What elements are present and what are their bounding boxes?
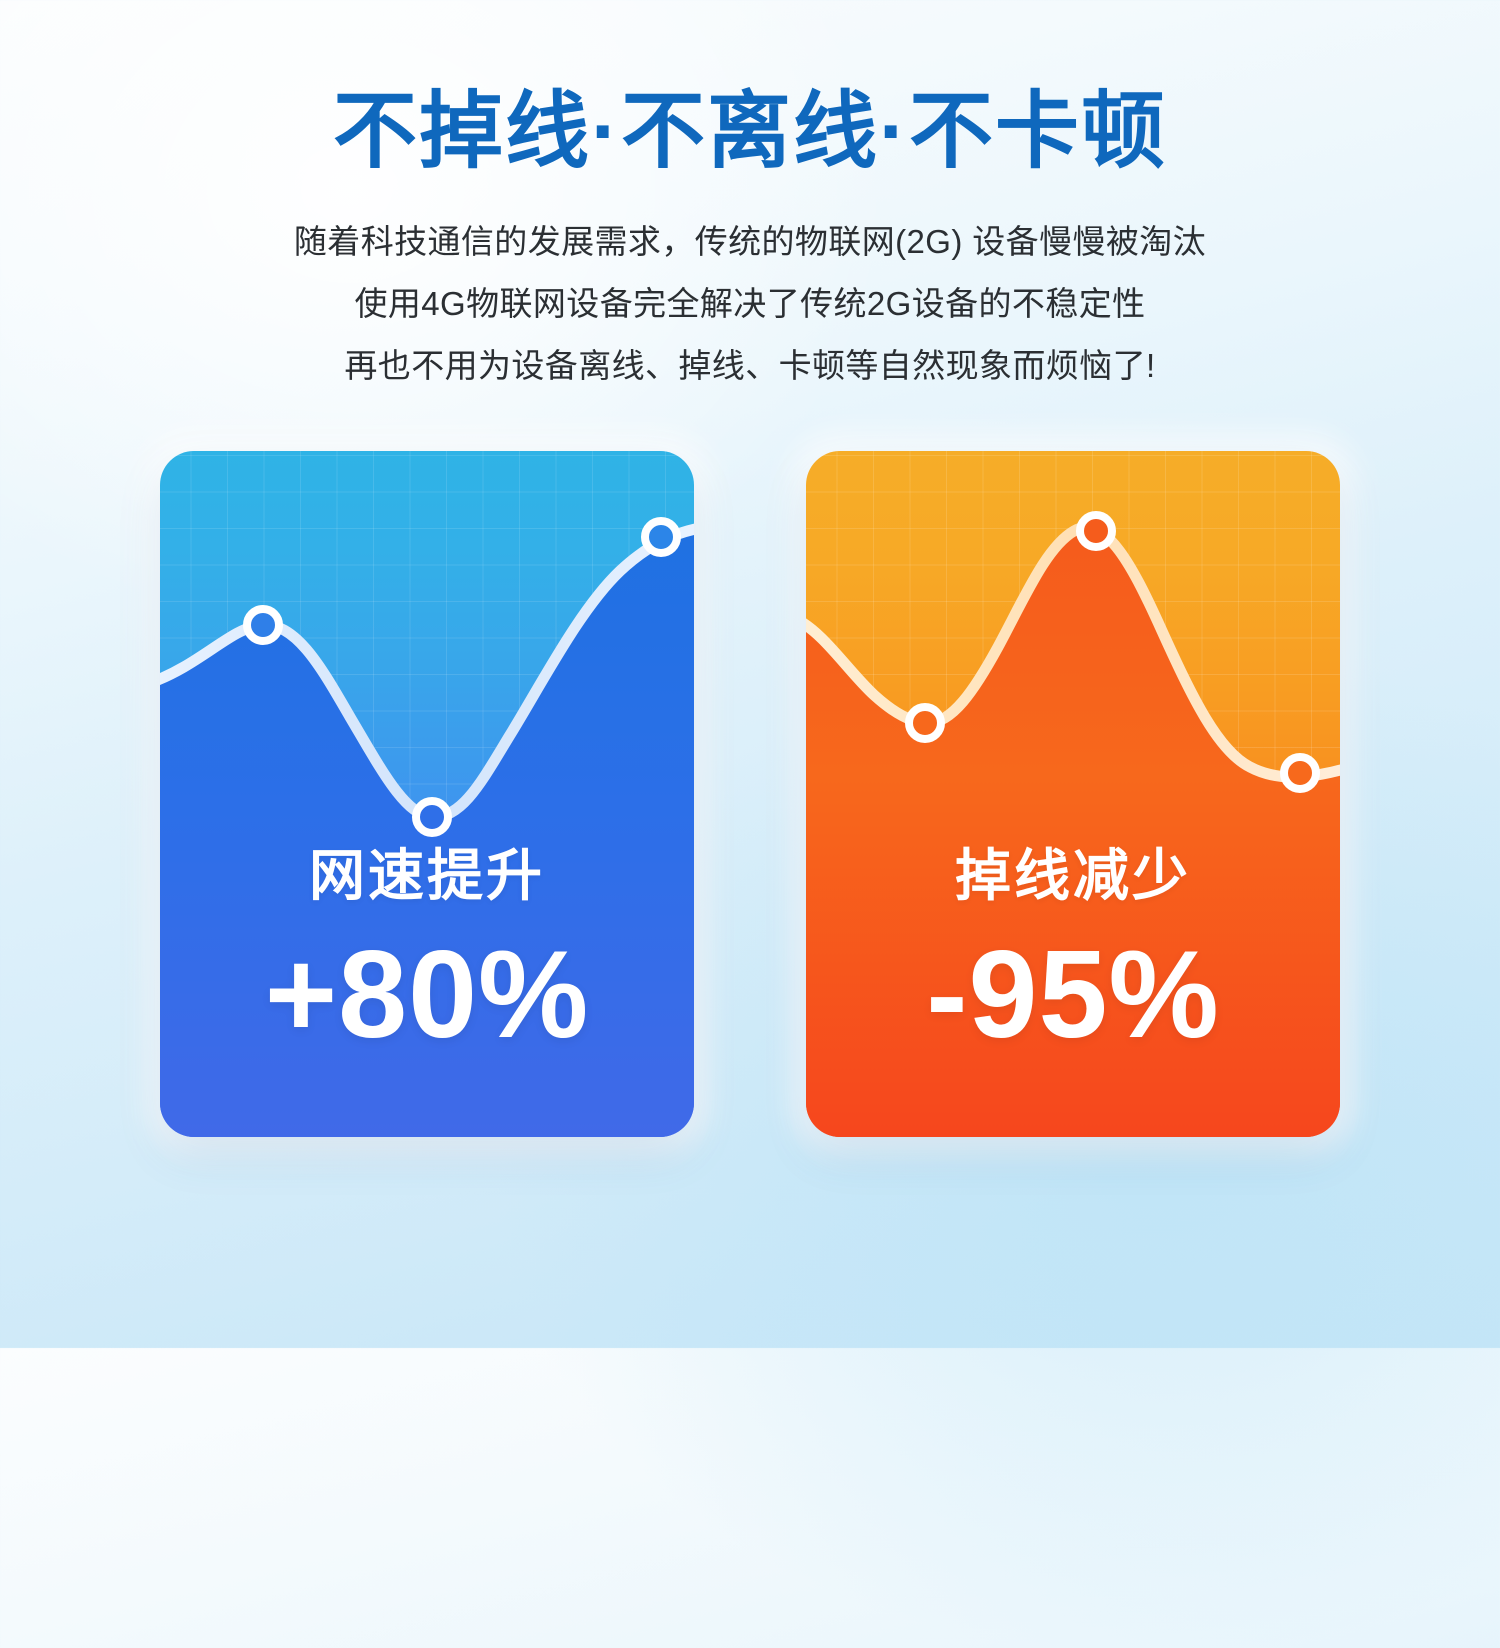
stat-card-label-speed: 网速提升: [160, 831, 694, 912]
stat-card-speed-wrapper: 网速提升 +80%: [160, 451, 694, 1137]
header-section: 不掉线·不离线·不卡顿 随着科技通信的发展需求，传统的物联网(2G) 设备慢慢被…: [0, 0, 1500, 397]
subtitle-block: 随着科技通信的发展需求，传统的物联网(2G) 设备慢慢被淘汰 使用4G物联网设备…: [0, 211, 1500, 397]
stat-card-value-dropout: -95%: [806, 933, 1340, 1057]
stat-card-dropout[interactable]: 掉线减少 -95%: [806, 451, 1340, 1137]
data-point-marker: [1080, 515, 1112, 547]
data-point-marker: [416, 801, 448, 833]
stat-card-dropout-wrapper: 掉线减少 -95%: [806, 451, 1340, 1137]
stat-card-label-dropout: 掉线减少: [806, 831, 1340, 912]
subtitle-line-2: 使用4G物联网设备完全解决了传统2G设备的不稳定性: [0, 273, 1500, 335]
subtitle-line-3: 再也不用为设备离线、掉线、卡顿等自然现象而烦恼了!: [0, 335, 1500, 397]
subtitle-line-1: 随着科技通信的发展需求，传统的物联网(2G) 设备慢慢被淘汰: [0, 211, 1500, 273]
data-point-marker: [645, 521, 677, 553]
data-point-marker: [1284, 757, 1316, 789]
data-point-marker: [247, 609, 279, 641]
stat-card-speed[interactable]: 网速提升 +80%: [160, 451, 694, 1137]
page-title: 不掉线·不离线·不卡顿: [0, 86, 1500, 177]
data-point-marker: [909, 707, 941, 739]
stat-card-value-speed: +80%: [160, 933, 694, 1057]
stat-cards-row: 网速提升 +80%: [0, 451, 1500, 1137]
